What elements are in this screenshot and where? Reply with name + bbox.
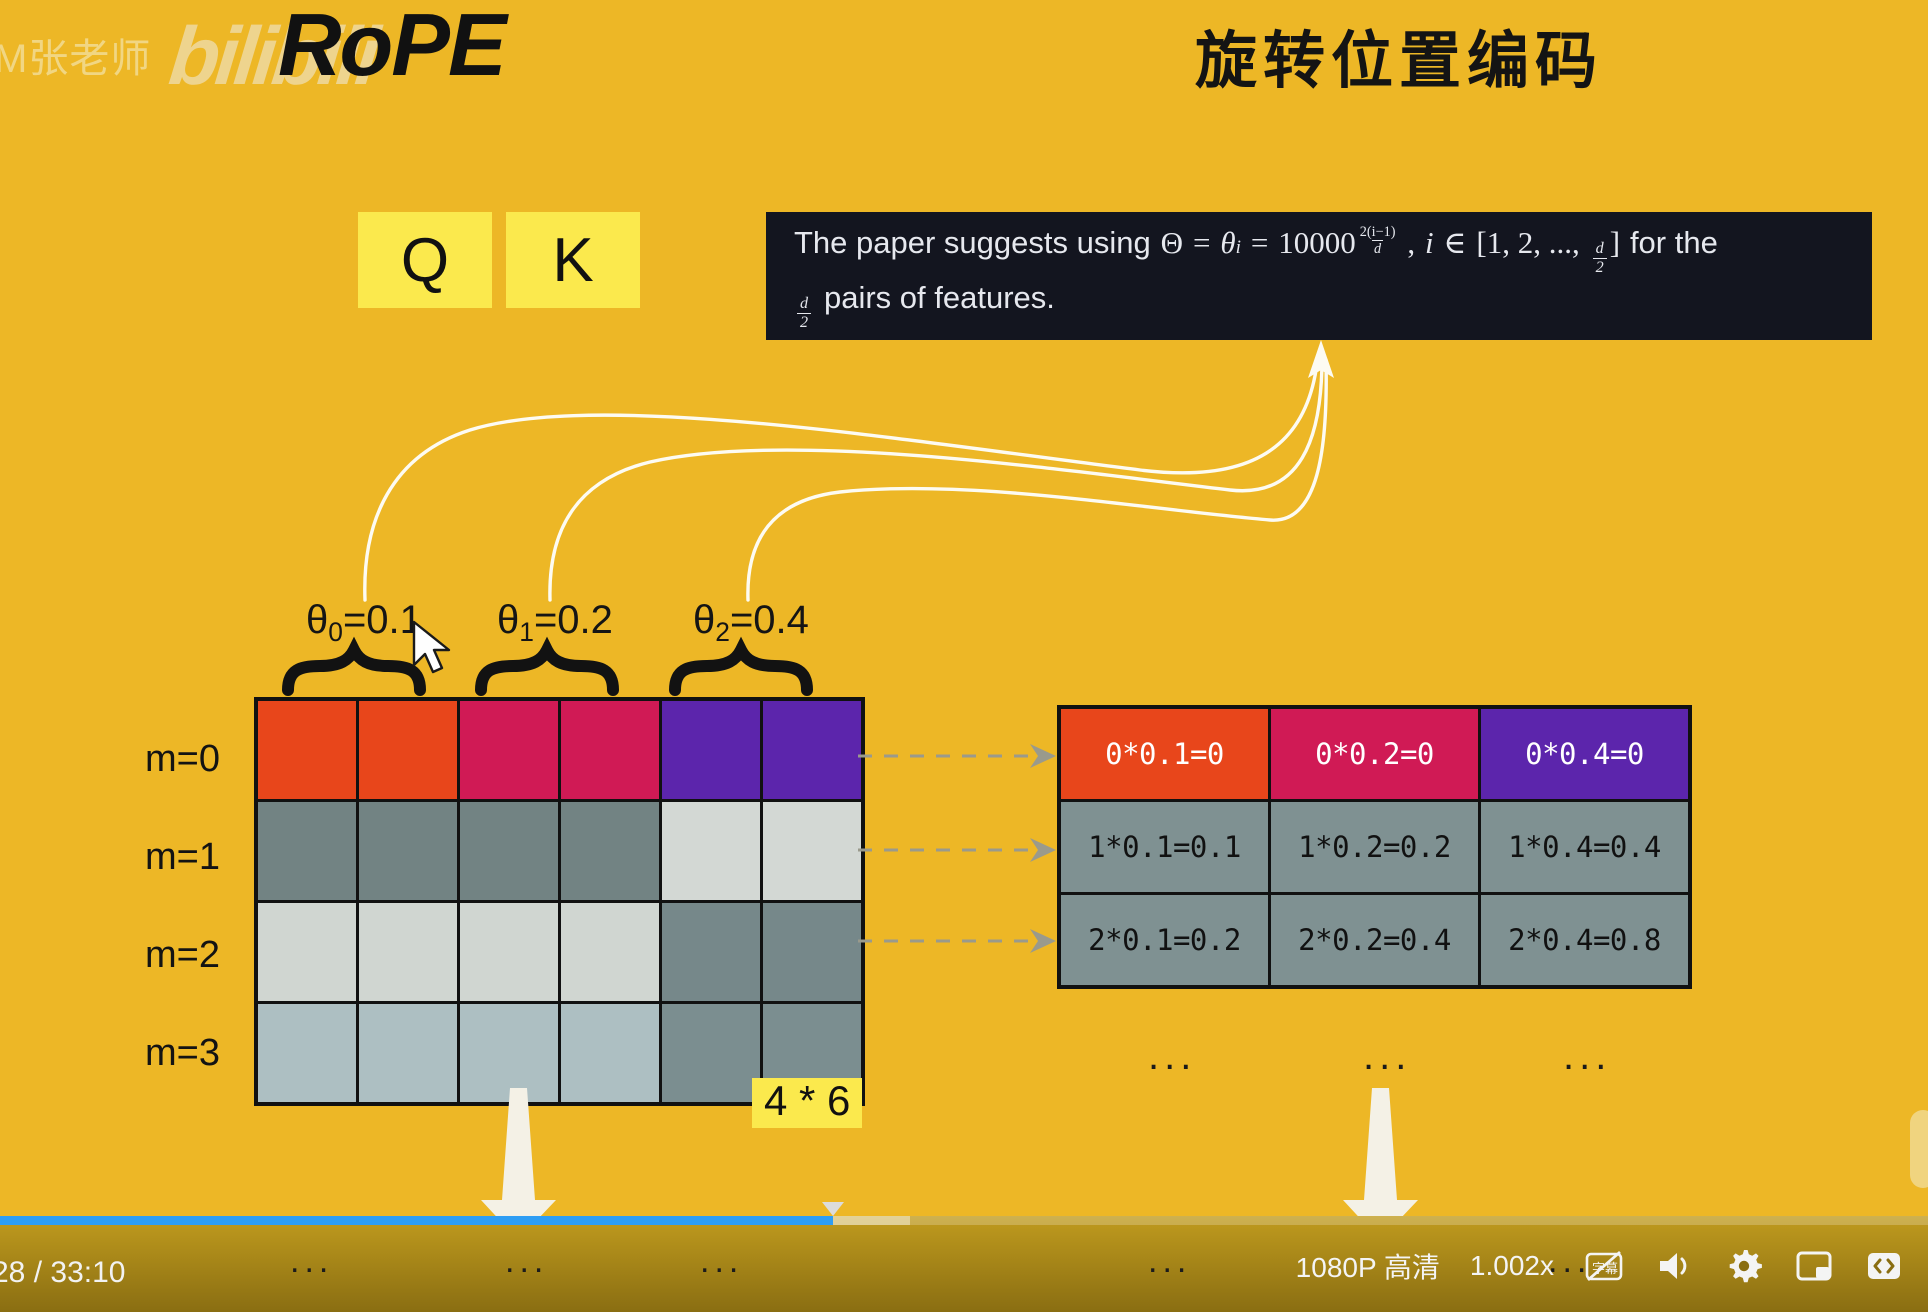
grid-cell-r2-c4 [662, 903, 760, 1001]
video-player-controls: 28 / 33:10 ... ... ... ... ... 1080P 高清 … [0, 1216, 1928, 1312]
theta-0-symbol: θ [306, 598, 328, 642]
time-total: 33:10 [50, 1256, 125, 1289]
qk-boxes: Q K [358, 212, 640, 308]
bracket-open: [ [1476, 225, 1486, 261]
grid-cell-r1-c2 [460, 802, 558, 900]
grid-cell-r0-c5 [763, 701, 861, 799]
grid-cell-r1-c1 [359, 802, 457, 900]
equals-sign-2: = [1251, 225, 1268, 261]
grid-cell-r2-c5 [763, 903, 861, 1001]
theta-label-2: θ2=0.4 [693, 598, 809, 648]
grid-cell-r1-c0 [258, 802, 356, 900]
d-over-2-num-1: d [1593, 241, 1607, 258]
exponent-fraction: 2(i−1) d [1358, 225, 1398, 257]
page-title-chinese: 旋转位置编码 [1195, 10, 1603, 100]
result-cell-r0-c2: 0*0.4=0 [1481, 709, 1688, 799]
formula-prefix: The paper suggests using [794, 225, 1151, 261]
row-label-m1: m=1 [145, 808, 220, 906]
playback-time: 28 / 33:10 [0, 1256, 125, 1290]
grid-cell-r2-c2 [460, 903, 558, 1001]
picture-in-picture-icon[interactable] [1794, 1246, 1834, 1286]
row-label-m3: m=3 [145, 1004, 220, 1102]
grid-cell-r0-c2 [460, 701, 558, 799]
theta-0-sub: 0 [328, 617, 343, 647]
theta-2-sub: 2 [715, 617, 730, 647]
grid-size-badge: 4 * 6 [752, 1078, 862, 1128]
d-over-2-num-2: d [797, 296, 811, 313]
playback-speed-selector[interactable]: 1.002x [1470, 1250, 1554, 1282]
grid-cell-r3-c0 [258, 1004, 356, 1102]
theta-i-subscript: i [1236, 237, 1241, 259]
exponent-numerator: 2(i−1) [1358, 225, 1398, 240]
set-items: 1, 2, ..., [1487, 225, 1580, 261]
theta-1-sub: 1 [519, 617, 534, 647]
theta-2-value: =0.4 [730, 598, 809, 642]
watermark-author: M张老师 [0, 26, 151, 84]
right-edge-handle[interactable] [1910, 1110, 1928, 1188]
d-over-2-fraction-2: d 2 [797, 296, 811, 331]
progress-bar-track[interactable] [0, 1216, 1928, 1225]
theta-product-table: 0*0.1=00*0.2=00*0.4=01*0.1=0.11*0.2=0.21… [1057, 705, 1692, 989]
curve-arrowhead [1308, 340, 1334, 378]
element-of-symbol: ∈ [1444, 225, 1467, 261]
grid-cell-r1-c3 [561, 802, 659, 900]
row-label-m2: m=2 [145, 906, 220, 1004]
result-cell-r0-c0: 0*0.1=0 [1061, 709, 1268, 799]
page-title-rope: RoPE [278, 0, 505, 96]
formula-line-1: The paper suggests using Θ = θi = 10000 … [794, 225, 1846, 276]
curved-connector-arrows [0, 0, 1928, 1312]
theta-2-symbol: θ [693, 598, 715, 642]
timeline-dot-marker-3[interactable]: ... [1148, 1244, 1191, 1278]
timeline-dot-marker-2[interactable]: ... [700, 1244, 743, 1278]
formula-banner: The paper suggests using Θ = θi = 10000 … [766, 212, 1872, 340]
theta-1-symbol: θ [497, 598, 519, 642]
formula-suffix: for the [1630, 225, 1718, 261]
progress-bar-marker[interactable] [822, 1202, 844, 1216]
time-separator: / [34, 1256, 42, 1289]
result-cell-r0-c1: 0*0.2=0 [1271, 709, 1478, 799]
time-current: 28 [0, 1256, 25, 1289]
formula-line-2: d 2 pairs of features. [794, 280, 1846, 331]
grid-cell-r0-c0 [258, 701, 356, 799]
q-box: Q [358, 212, 492, 308]
result-column-dots-1: ... [1363, 1036, 1411, 1076]
grid-cell-r2-c1 [359, 903, 457, 1001]
web-fullscreen-icon[interactable] [1864, 1246, 1904, 1286]
comma-1: , [1407, 225, 1415, 261]
result-cell-r2-c2: 2*0.4=0.8 [1481, 895, 1688, 985]
exponent-denominator: d [1372, 240, 1383, 256]
mouse-cursor [0, 0, 1928, 1312]
grid-cell-r3-c3 [561, 1004, 659, 1102]
result-column-dots-2: ... [1563, 1036, 1611, 1076]
base-10000: 10000 [1278, 225, 1356, 261]
settings-gear-icon[interactable] [1724, 1246, 1764, 1286]
down-flow-arrows [0, 0, 1928, 1312]
volume-icon[interactable] [1654, 1246, 1694, 1286]
feature-grid [254, 697, 865, 1106]
grid-cell-r1-c4 [662, 802, 760, 900]
k-box: K [506, 212, 640, 308]
d-over-2-fraction-1: d 2 [1593, 241, 1607, 276]
d-over-2-den-1: 2 [1593, 258, 1607, 276]
subtitle-off-icon[interactable]: 字幕 [1584, 1246, 1624, 1286]
theta-1-value: =0.2 [534, 598, 613, 642]
grid-column-braces [0, 0, 1928, 1312]
theta-i-symbol: θ [1220, 225, 1235, 261]
row-label-m0: m=0 [145, 710, 220, 808]
player-right-controls: 1080P 高清 1.002x 字幕 [1296, 1246, 1904, 1286]
result-cell-r1-c1: 1*0.2=0.2 [1271, 802, 1478, 892]
theta-0-value: =0.1 [343, 598, 422, 642]
result-cell-r2-c0: 2*0.1=0.2 [1061, 895, 1268, 985]
grid-cell-r1-c5 [763, 802, 861, 900]
grid-cell-r0-c1 [359, 701, 457, 799]
timeline-dot-marker-1[interactable]: ... [505, 1244, 548, 1278]
index-variable-i: i [1425, 225, 1434, 261]
result-cell-r1-c0: 1*0.1=0.1 [1061, 802, 1268, 892]
grid-cell-r2-c3 [561, 903, 659, 1001]
grid-cell-r3-c2 [460, 1004, 558, 1102]
result-cell-r2-c1: 2*0.2=0.4 [1271, 895, 1478, 985]
d-over-2-den-2: 2 [797, 313, 811, 331]
progress-bar-played [0, 1216, 833, 1225]
grid-cell-r0-c4 [662, 701, 760, 799]
quality-selector[interactable]: 1080P 高清 [1296, 1246, 1440, 1286]
formula-line2-text: pairs of features. [824, 280, 1055, 316]
grid-cell-r3-c1 [359, 1004, 457, 1102]
grid-cell-r0-c3 [561, 701, 659, 799]
dashed-mapping-arrows [0, 0, 1928, 1312]
timeline-dot-marker-0[interactable]: ... [290, 1244, 333, 1278]
theta-label-0: θ0=0.1 [306, 598, 422, 648]
grid-cell-r3-c4 [662, 1004, 760, 1102]
theta-label-1: θ1=0.2 [497, 598, 613, 648]
theta-capital-symbol: Θ [1161, 225, 1183, 261]
grid-row-labels: m=0 m=1 m=2 m=3 [145, 710, 220, 1102]
bracket-close: ] [1610, 225, 1620, 261]
result-cell-r1-c2: 1*0.4=0.4 [1481, 802, 1688, 892]
result-column-dots-0: ... [1148, 1036, 1196, 1076]
slide-stage: M张老师 bilibili RoPE 旋转位置编码 Q K The paper … [0, 0, 1928, 1312]
grid-cell-r2-c0 [258, 903, 356, 1001]
equals-sign-1: = [1193, 225, 1210, 261]
